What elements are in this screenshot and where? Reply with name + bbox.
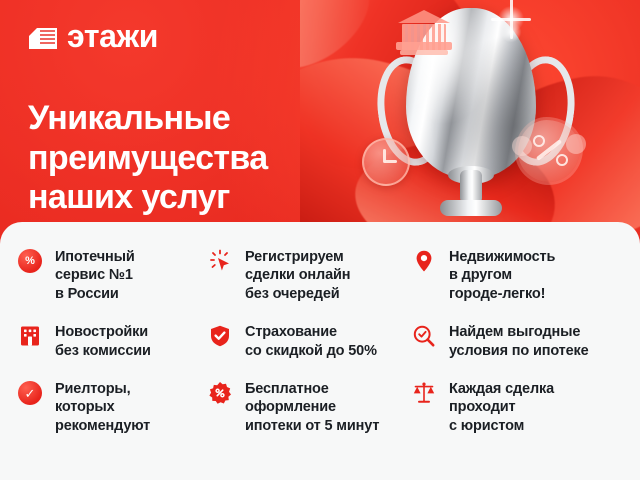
feature-label: Найдем выгодные условия по ипотеке [449, 323, 589, 360]
features-column-3: Недвижимость в другом городе-легко! [412, 248, 622, 480]
feature-item[interactable]: Недвижимость в другом городе-легко! [412, 248, 622, 303]
feature-line: сделки онлайн [245, 266, 350, 284]
feature-line: в России [55, 285, 135, 303]
feature-line: оформление [245, 398, 379, 416]
new-building-glyph [18, 324, 42, 348]
feature-item[interactable]: Бесплатное оформление ипотеки от 5 минут [208, 380, 412, 435]
feature-line: Риелторы, [55, 380, 150, 398]
feature-label: Бесплатное оформление ипотеки от 5 минут [245, 380, 379, 435]
shield-check-icon [208, 324, 234, 350]
bank-plinth [396, 42, 452, 50]
bank-plinth-lower [400, 50, 448, 55]
feature-item[interactable]: Регистрируем сделки онлайн без очередей [208, 248, 412, 303]
feature-line: Регистрируем [245, 248, 350, 266]
features-card: % Ипотечный сервис №1 в России [0, 222, 640, 480]
feature-item[interactable]: Новостройки без комиссии [18, 323, 208, 360]
clock-icon [362, 138, 410, 186]
percent-dot-lower [556, 154, 568, 166]
map-pin-glyph [412, 249, 436, 273]
feature-line: Ипотечный [55, 248, 135, 266]
feature-item[interactable]: Страхование со скидкой до 50% [208, 323, 412, 360]
cursor-click-glyph [208, 249, 232, 273]
bank-building-icon [396, 10, 452, 54]
feature-line: со скидкой до 50% [245, 342, 377, 360]
headline-line-3: наших услуг [28, 178, 358, 218]
scales-justice-glyph [412, 381, 436, 405]
feature-label: Регистрируем сделки онлайн без очередей [245, 248, 350, 303]
feature-line: в другом [449, 266, 555, 284]
feature-line: без очередей [245, 285, 350, 303]
feature-line: ипотеки от 5 минут [245, 417, 379, 435]
feature-line: проходит [449, 398, 554, 416]
headline-line-2: преимущества [28, 139, 358, 179]
feature-line: Новостройки [55, 323, 151, 341]
feature-line: которых [55, 398, 150, 416]
building-logo-icon [28, 23, 58, 50]
feature-line: Недвижимость [449, 248, 555, 266]
features-column-1: % Ипотечный сервис №1 в России [18, 248, 208, 480]
feature-line: условия по ипотеке [449, 342, 589, 360]
feature-line: Бесплатное [245, 380, 379, 398]
trophy-stem [460, 170, 482, 204]
feature-item[interactable]: Найдем выгодные условия по ипотеке [412, 323, 622, 360]
feature-label: Риелторы, которых рекомендуют [55, 380, 150, 435]
brand-logo[interactable]: этажи [28, 20, 158, 52]
feature-line: городе-легко! [449, 285, 555, 303]
feature-label: Недвижимость в другом городе-легко! [449, 248, 555, 303]
check-glyph: ✓ [18, 381, 42, 405]
brand-name: этажи [67, 20, 158, 52]
feature-line: сервис №1 [55, 266, 135, 284]
feature-item[interactable]: Каждая сделка проходит с юристом [412, 380, 622, 435]
search-check-icon [412, 324, 438, 350]
feature-item[interactable]: ✓ Риелторы, которых рекомендуют [18, 380, 208, 435]
percent-dot-upper [533, 135, 545, 147]
search-check-glyph [412, 324, 436, 348]
sparkle-icon [496, 4, 526, 34]
feature-label: Страхование со скидкой до 50% [245, 323, 377, 360]
percent-badge-glyph [208, 381, 232, 405]
scales-justice-icon [412, 381, 438, 407]
feature-line: Найдем выгодные [449, 323, 589, 341]
promo-banner: этажи Уникальные преимущества наших услу… [0, 0, 640, 480]
feature-line: Страхование [245, 323, 377, 341]
percent-circle-icon: % [18, 249, 44, 275]
feature-line: рекомендуют [55, 417, 150, 435]
features-column-2: Регистрируем сделки онлайн без очередей … [208, 248, 412, 480]
clock-hand-minute [384, 160, 397, 163]
feature-item[interactable]: % Ипотечный сервис №1 в России [18, 248, 208, 303]
bank-roof [398, 10, 450, 23]
headline-line-1: Уникальные [28, 99, 358, 139]
feature-label: Каждая сделка проходит с юристом [449, 380, 554, 435]
cursor-click-icon [208, 249, 234, 275]
percent-glyph: % [18, 249, 42, 273]
feature-line: Каждая сделка [449, 380, 554, 398]
new-building-icon [18, 324, 44, 350]
percent-badge-circle-icon [208, 381, 234, 407]
page-title: Уникальные преимущества наших услуг [28, 99, 358, 218]
trophy-base [440, 200, 502, 216]
feature-label: Новостройки без комиссии [55, 323, 151, 360]
feature-line: без комиссии [55, 342, 151, 360]
shield-check-glyph [208, 324, 232, 348]
features-columns: % Ипотечный сервис №1 в России [0, 222, 640, 480]
check-circle-icon: ✓ [18, 381, 44, 407]
map-pin-icon [412, 249, 438, 275]
feature-line: с юристом [449, 417, 554, 435]
feature-label: Ипотечный сервис №1 в России [55, 248, 135, 303]
